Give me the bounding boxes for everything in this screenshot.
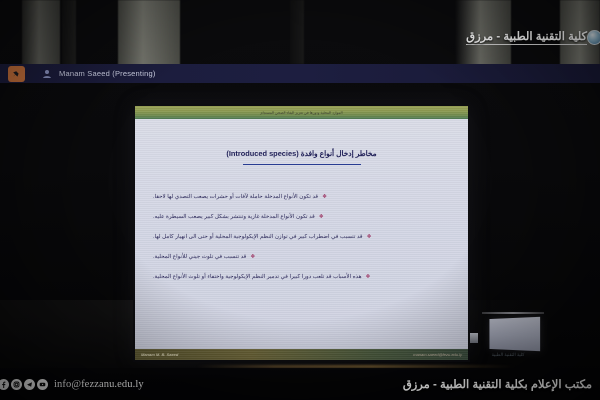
bullet-text: قد تتسبب في تلوث جيني للأنواع المحلية. [153,253,246,262]
slide-header-text: الموارد المحلية ودورها في تعزيز البقاء ا… [260,110,342,115]
list-item: ❖ هذه الأسباب قد تلعب دورا كبيرا في تدمي… [149,273,454,282]
projection-screen: الموارد المحلية ودورها في تعزيز البقاء ا… [133,104,470,362]
list-item: ❖ قد تتسبب في اضطراب كبير في توازن النظم… [149,233,454,242]
social-icon-group[interactable] [0,379,48,390]
bullet-text: قد تكون الأنواع المدخلة حاملة لآفات أو ح… [153,193,318,202]
slide-footer-email: manam.saeed@fezu.edu.ly [413,352,462,357]
facebook-icon[interactable] [0,379,9,390]
participant-icon [41,68,53,80]
broadcast-bottom-bar: info@fezzanu.edu.ly مكتب الإعلام بكلية ا… [0,368,600,400]
slide-title-wrap: مخاطر إدخال أنواع وافدة (Introduced spec… [149,143,454,165]
video-conference-stage: Manam Saeed (Presenting) كلية التقنية ال… [0,0,600,400]
stage-curtain [22,0,60,68]
contact-email: info@fezzanu.edu.ly [54,379,144,390]
presenter-name-label: Manam Saeed (Presenting) [59,69,156,78]
bullet-marker-icon: ❖ [319,213,324,222]
instagram-icon[interactable] [11,379,22,390]
bullet-text: هذه الأسباب قد تلعب دورا كبيرا في تدمير … [153,273,362,282]
bullet-marker-icon: ❖ [250,253,255,262]
list-item: ❖ قد تتسبب في تلوث جيني للأنواع المحلية. [149,253,454,262]
channel-banner-top-text: كلية التقنية الطبية - مرزق [466,29,587,45]
stage-curtain [62,0,76,66]
channel-banner-top: كلية التقنية الطبية - مرزق [456,26,600,48]
stage-curtain [118,0,180,70]
bullet-text: قد تكون الأنواع المدخلة غازية وتنتشر بشك… [153,213,315,222]
youtube-icon[interactable] [37,379,48,390]
media-office-banner: مكتب الإعلام بكلية التقنية الطبية - مرزق [403,377,594,391]
globe-logo-icon [587,30,600,45]
list-item: ❖ قد تكون الأنواع المدخلة غازية وتنتشر ب… [149,213,454,222]
slide-title: مخاطر إدخال أنواع وافدة (Introduced spec… [226,149,376,162]
slide-body: مخاطر إدخال أنواع وافدة (Introduced spec… [135,119,468,349]
presenter-name-bar[interactable]: Manam Saeed (Presenting) [0,64,600,83]
slide-footer-author: Manam M. B. Saeed [141,352,178,357]
pin-icon[interactable] [8,66,25,82]
bullet-marker-icon: ❖ [367,233,372,242]
bullet-text: قد تتسبب في اضطراب كبير في توازن النظم ا… [153,233,363,242]
slide-footer: Manam M. B. Saeed manam.saeed@fezu.edu.l… [135,349,468,360]
bullet-marker-icon: ❖ [366,273,371,282]
list-item: ❖ قد تكون الأنواع المدخلة حاملة لآفات أو… [149,193,454,202]
aux-screen-rail [482,312,544,314]
bottom-bar-left: info@fezzanu.edu.ly [6,379,144,390]
slide-title-underline [243,164,361,165]
aux-projection-screen [489,317,540,351]
slide-bullet-list: ❖ قد تكون الأنواع المدخلة حاملة لآفات أو… [149,193,454,282]
slide-header-band: الموارد المحلية ودورها في تعزيز البقاء ا… [135,106,468,119]
presentation-slide: الموارد المحلية ودورها في تعزيز البقاء ا… [135,106,468,360]
telegram-icon[interactable] [24,379,35,390]
bullet-marker-icon: ❖ [322,193,327,202]
stage-curtain [290,0,304,64]
aux-screen-caption: كلية التقنية الطبية [470,352,546,358]
